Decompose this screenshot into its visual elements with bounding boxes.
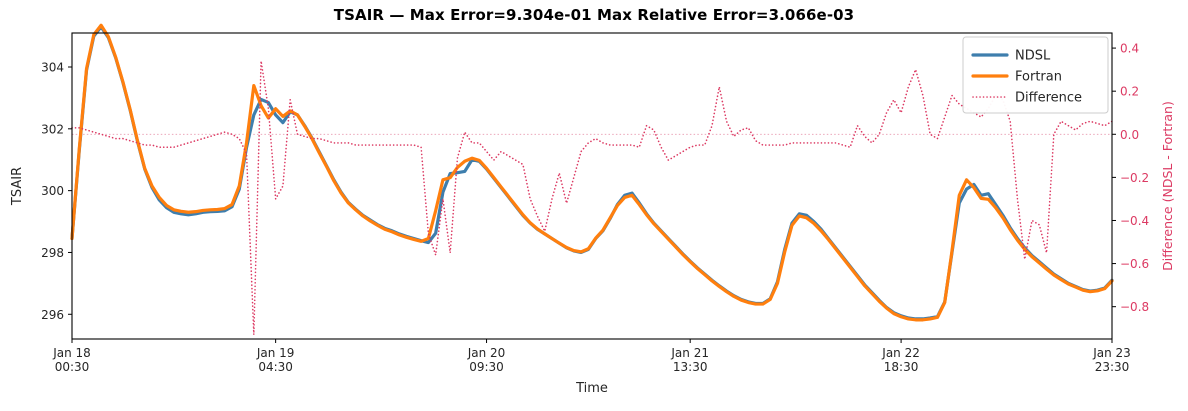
ytick-label-right-1: −0.6 xyxy=(1120,257,1149,271)
ytick-label-right-6: 0.4 xyxy=(1120,42,1139,56)
ytick-label-left-2: 300 xyxy=(41,184,64,198)
xtick-label-time-5: 23:30 xyxy=(1095,360,1130,374)
ytick-label-left-3: 302 xyxy=(41,122,64,136)
xtick-label-date-3: Jan 21 xyxy=(670,346,709,360)
ytick-label-right-4: 0.0 xyxy=(1120,128,1139,142)
yaxis-label-left: TSAIR xyxy=(10,167,25,206)
xtick-label-date-0: Jan 18 xyxy=(52,346,91,360)
yaxis-label-right: Difference (NDSL - Fortran) xyxy=(1160,101,1175,271)
series-line-difference xyxy=(72,61,1112,335)
axes-frame xyxy=(72,33,1112,339)
xtick-label-date-4: Jan 22 xyxy=(881,346,920,360)
ytick-label-left-1: 298 xyxy=(41,246,64,260)
matplotlib-figure: TSAIR — Max Error=9.304e-01 Max Relative… xyxy=(0,0,1188,411)
xtick-label-time-1: 04:30 xyxy=(258,360,293,374)
xtick-label-time-4: 18:30 xyxy=(884,360,919,374)
plot-canvas: 296298300302304−0.8−0.6−0.4−0.20.00.20.4… xyxy=(0,0,1188,411)
legend-label-difference: Difference xyxy=(1015,91,1082,106)
legend-label-fortran: Fortran xyxy=(1015,70,1062,85)
legend-label-ndsl: NDSL xyxy=(1015,49,1051,64)
xtick-label-time-0: 00:30 xyxy=(55,360,90,374)
ytick-label-right-0: −0.8 xyxy=(1120,300,1149,314)
ytick-label-left-4: 304 xyxy=(41,61,64,75)
series-line-fortran xyxy=(72,25,1112,320)
xaxis-label: Time xyxy=(575,381,608,396)
xtick-label-time-2: 09:30 xyxy=(469,360,504,374)
xtick-label-date-1: Jan 19 xyxy=(256,346,295,360)
xtick-label-date-2: Jan 20 xyxy=(467,346,506,360)
ytick-label-right-5: 0.2 xyxy=(1120,85,1139,99)
ytick-label-right-3: −0.2 xyxy=(1120,171,1149,185)
xtick-label-date-5: Jan 23 xyxy=(1092,346,1131,360)
ytick-label-right-2: −0.4 xyxy=(1120,214,1149,228)
series-line-ndsl xyxy=(72,27,1112,319)
ytick-label-left-0: 296 xyxy=(41,308,64,322)
xtick-label-time-3: 13:30 xyxy=(673,360,708,374)
